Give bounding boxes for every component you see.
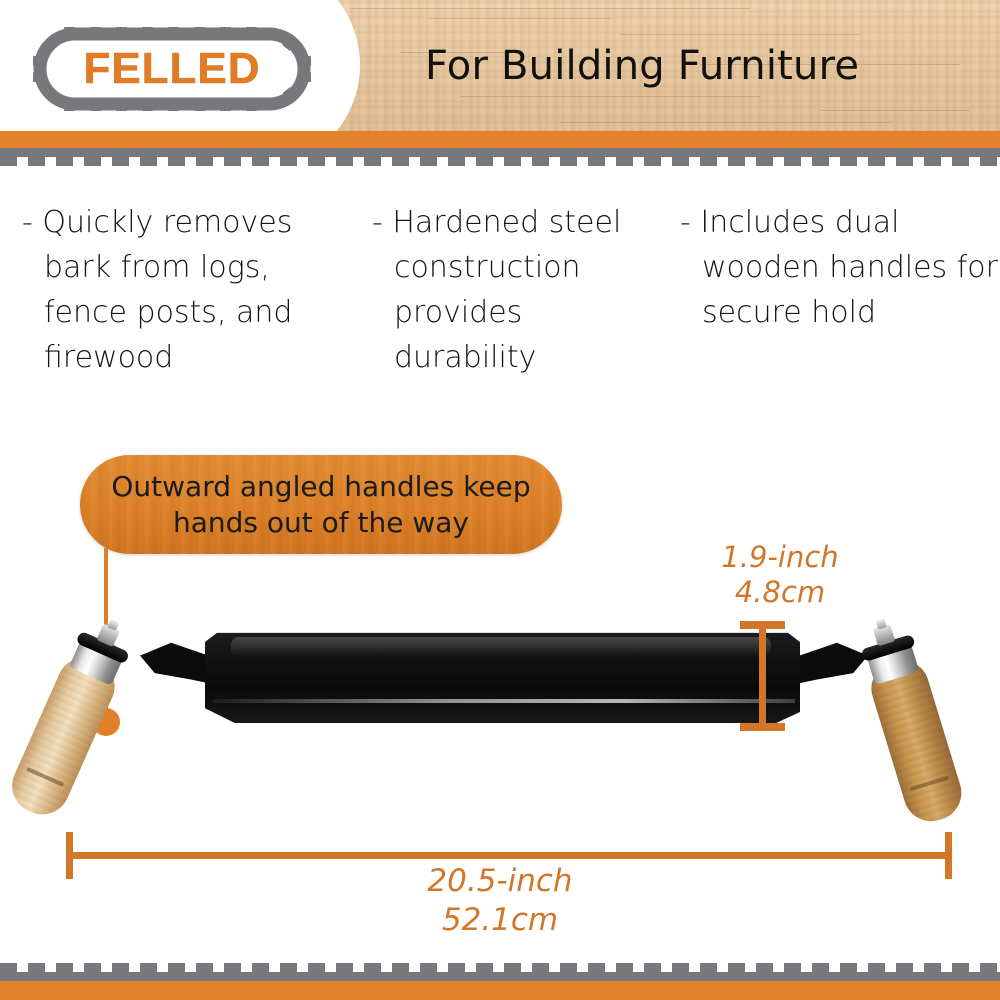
page-title: For Building Furniture (425, 43, 859, 89)
chain-teeth-top (0, 157, 1000, 166)
feature-column-3: - Includes dual wooden handles for secur… (680, 200, 1000, 335)
chain-teeth-bottom (0, 963, 1000, 972)
feature-text: - Hardened steel construction provides d… (372, 200, 672, 380)
blade-cutting-edge (213, 699, 795, 703)
feature-text: - Quickly removes bark from logs, fence … (22, 200, 352, 380)
drawknife-blade (205, 631, 800, 723)
orange-divider-top (0, 131, 1000, 148)
infographic-canvas: FELLED For Building Furniture - Quickly … (0, 0, 1000, 1000)
height-measure-cap-bottom (740, 723, 785, 731)
width-metric: 52.1cm (0, 901, 1000, 940)
brand-name: FELLED (32, 26, 312, 112)
height-metric: 4.8cm (690, 575, 870, 610)
feature-column-2: - Hardened steel construction provides d… (372, 200, 672, 380)
feature-list: - Quickly removes bark from logs, fence … (0, 200, 1000, 380)
orange-divider-bottom (0, 981, 1000, 1000)
header-banner: FELLED For Building Furniture (0, 0, 1000, 133)
product-image-drawknife (0, 430, 1000, 830)
width-imperial: 20.5-inch (0, 862, 1000, 901)
height-measure-line (759, 627, 766, 731)
feature-column-1: - Quickly removes bark from logs, fence … (22, 200, 352, 380)
chain-bar-bottom (0, 972, 1000, 981)
height-imperial: 1.9-inch (690, 540, 870, 575)
width-dimension-label: 20.5-inch 52.1cm (0, 862, 1000, 940)
blade-highlight (231, 637, 771, 657)
height-dimension-label: 1.9-inch 4.8cm (690, 540, 870, 610)
brand-logo: FELLED (32, 26, 312, 112)
chain-bar-top (0, 148, 1000, 157)
feature-text: - Includes dual wooden handles for secur… (680, 200, 1000, 335)
width-measure-line (66, 852, 952, 859)
